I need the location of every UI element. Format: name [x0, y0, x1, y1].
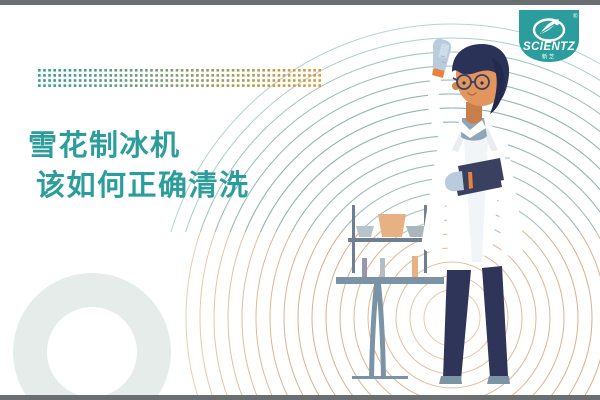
headline-line-2: 该如何正确清洗 — [36, 165, 250, 205]
tan-box — [378, 214, 406, 237]
viewer-chrome-bottom — [0, 395, 600, 400]
shoe-right — [487, 376, 510, 384]
logo-brand-cn: 新芝 — [542, 53, 556, 61]
tube-purple — [362, 258, 367, 279]
headline-line-1: 雪花制冰机 — [28, 125, 250, 165]
poster-canvas: 雪花制冰机 该如何正确清洗 ® SCIENTZ 新芝 — [0, 0, 600, 400]
tube-gray — [380, 258, 385, 279]
logo-registered-mark: ® — [573, 13, 578, 20]
leg-left — [443, 270, 471, 380]
bowl — [356, 226, 374, 237]
scientz-logo[interactable]: ® SCIENTZ 新芝 — [516, 8, 582, 64]
rack-shelf-top — [348, 238, 430, 242]
table-base — [352, 376, 408, 379]
viewer-chrome-top — [0, 0, 600, 5]
logo-brand-latin: SCIENTZ — [523, 41, 576, 53]
table-top — [336, 277, 444, 284]
scientist-figure — [422, 39, 524, 384]
tube-tan — [412, 256, 418, 279]
eye-right — [480, 81, 483, 84]
eye-left — [462, 81, 465, 84]
headline-block: 雪花制冰机 该如何正确清洗 — [28, 125, 250, 205]
shoe-left — [439, 376, 462, 384]
leg-right — [482, 266, 508, 378]
table-pedestal-right — [376, 284, 386, 378]
